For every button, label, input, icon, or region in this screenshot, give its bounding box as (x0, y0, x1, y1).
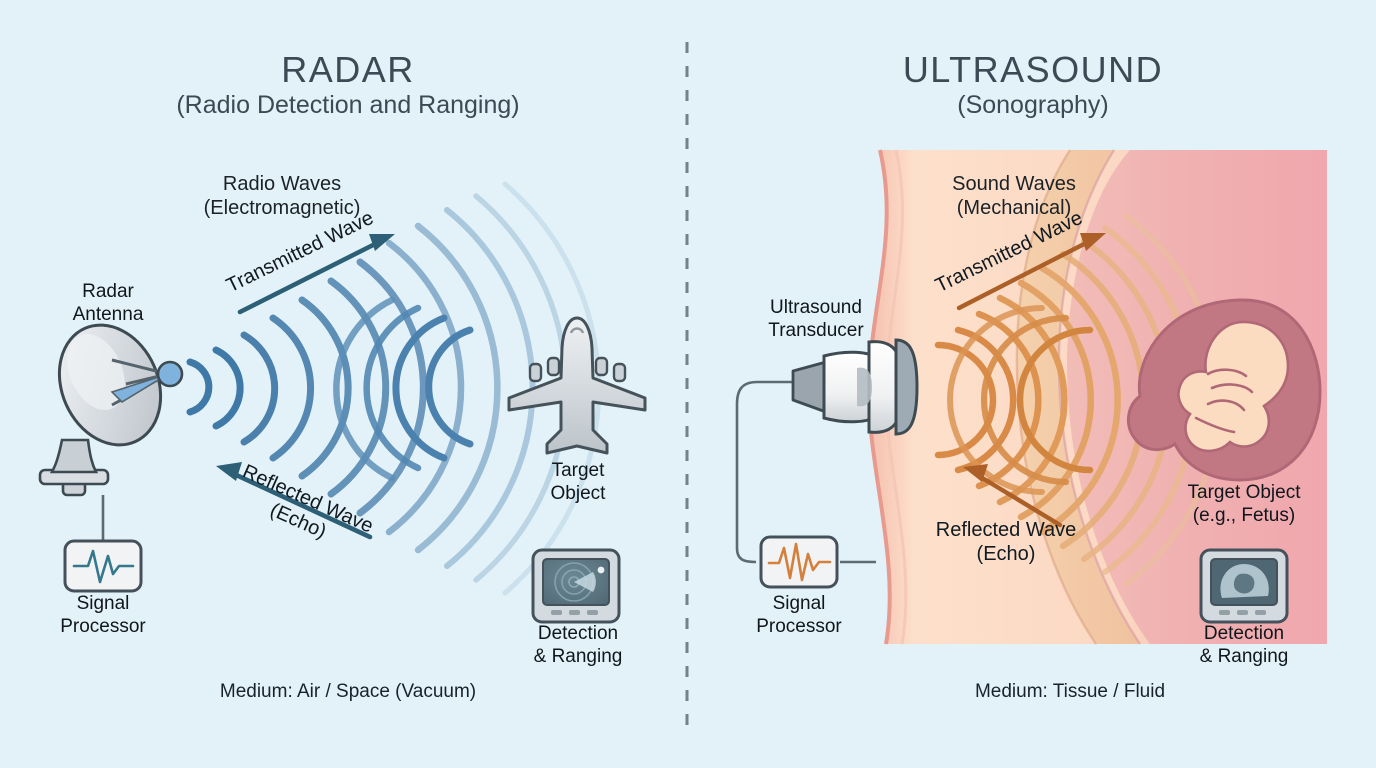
ultrasound-panel-subtitle: (Sonography) (833, 90, 1233, 121)
ultrasound-processor-label: Signal Processor (719, 592, 879, 638)
satellite-dish-icon (40, 309, 182, 495)
radar-target-label: Target Object (498, 459, 658, 505)
ultrasound-target-label: Target Object (e.g., Fetus) (1144, 481, 1344, 527)
radar-panel-subtitle: (Radio Detection and Ranging) (98, 90, 598, 121)
ultrasound-reflected-wave-label: Reflected Wave (Echo) (906, 518, 1106, 566)
radar-medium-label: Medium: Air / Space (Vacuum) (183, 680, 513, 703)
waveform-box-icon (761, 537, 837, 587)
ultrasound-medium-label: Medium: Tissue / Fluid (905, 680, 1235, 703)
ultrasound-probe-icon (757, 340, 917, 434)
radar-processor-label: Signal Processor (23, 592, 183, 638)
ultrasound-detector-label: Detection & Ranging (1162, 622, 1326, 668)
diagram-canvas: RADAR (Radio Detection and Ranging) Radi… (0, 0, 1376, 768)
ultrasound-screen-icon (1201, 550, 1287, 622)
radar-detector-label: Detection & Ranging (496, 622, 660, 668)
radar-panel-title: RADAR (148, 48, 548, 92)
waveform-box-icon (65, 541, 141, 591)
ultrasound-panel-title: ULTRASOUND (833, 48, 1233, 92)
ultrasound-transducer-label: Ultrasound Transducer (736, 296, 896, 342)
radar-screen-icon (533, 550, 619, 622)
radar-antenna-label: Radar Antenna (28, 280, 188, 326)
